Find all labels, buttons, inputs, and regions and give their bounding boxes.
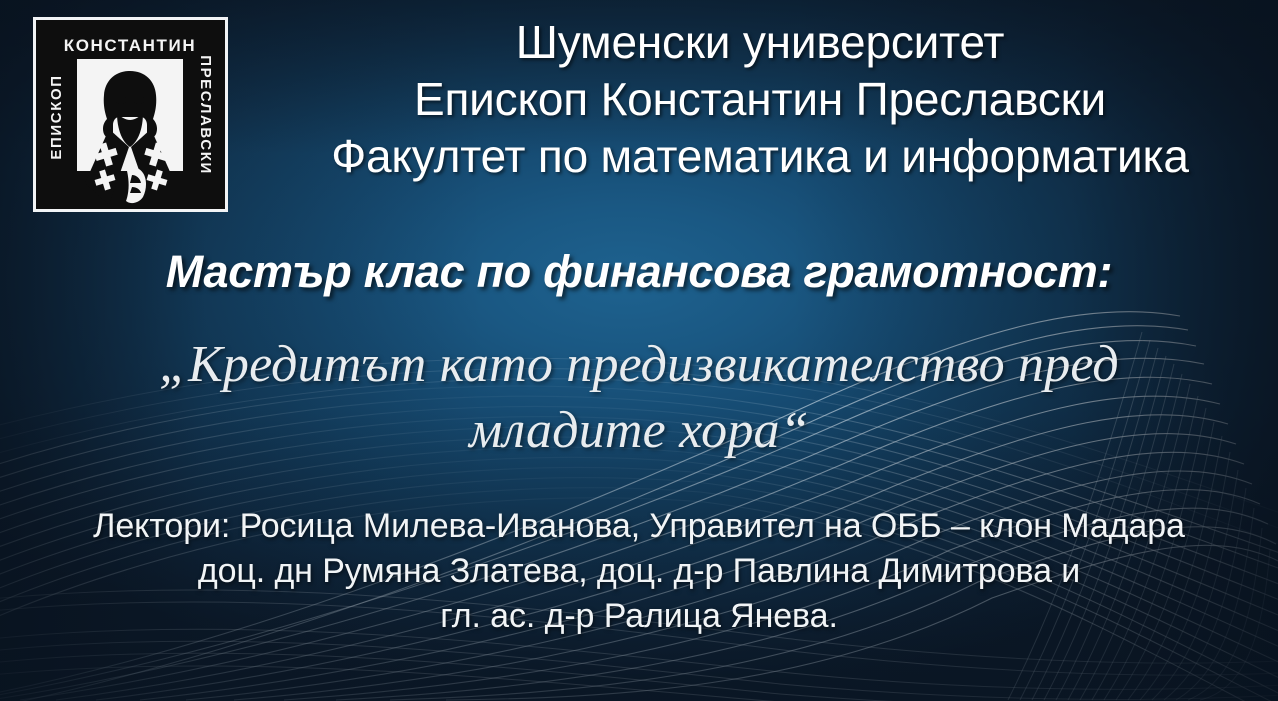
presentation-slide: КОНСТАНТИН ЕПИСКОП ПРЕСЛАВСКИ [0,0,1278,701]
event-title-line-1: „Кредитът като предизвикателство пред [40,332,1238,398]
event-title-line-2: младите хора“ [40,398,1238,464]
header-line-faculty: Факултет по математика и информатика [245,128,1275,185]
event-title: „Кредитът като предизвикателство пред мл… [40,332,1238,464]
university-logo: КОНСТАНТИН ЕПИСКОП ПРЕСЛАВСКИ [33,17,228,212]
logo-text-top: КОНСТАНТИН [64,36,196,55]
logo-text-left: ЕПИСКОП [48,74,65,159]
header-line-patron: Епископ Константин Преславски [245,71,1275,128]
lecturer-line-1: Лектори: Росица Милева-Иванова, Управите… [0,504,1278,549]
logo-artwork: КОНСТАНТИН ЕПИСКОП ПРЕСЛАВСКИ [33,17,228,212]
logo-text-right: ПРЕСЛАВСКИ [197,55,214,175]
institution-header: Шуменски университет Епископ Константин … [245,14,1275,185]
header-line-university: Шуменски университет [245,14,1275,71]
masterclass-label: Мастър клас по финансова грамотност: [0,243,1278,301]
lecturer-line-2: доц. дн Румяна Златева, доц. д-р Павлина… [0,549,1278,594]
lecturer-line-3: гл. ас. д-р Ралица Янева. [0,594,1278,639]
lecturers-block: Лектори: Росица Милева-Иванова, Управите… [0,504,1278,639]
